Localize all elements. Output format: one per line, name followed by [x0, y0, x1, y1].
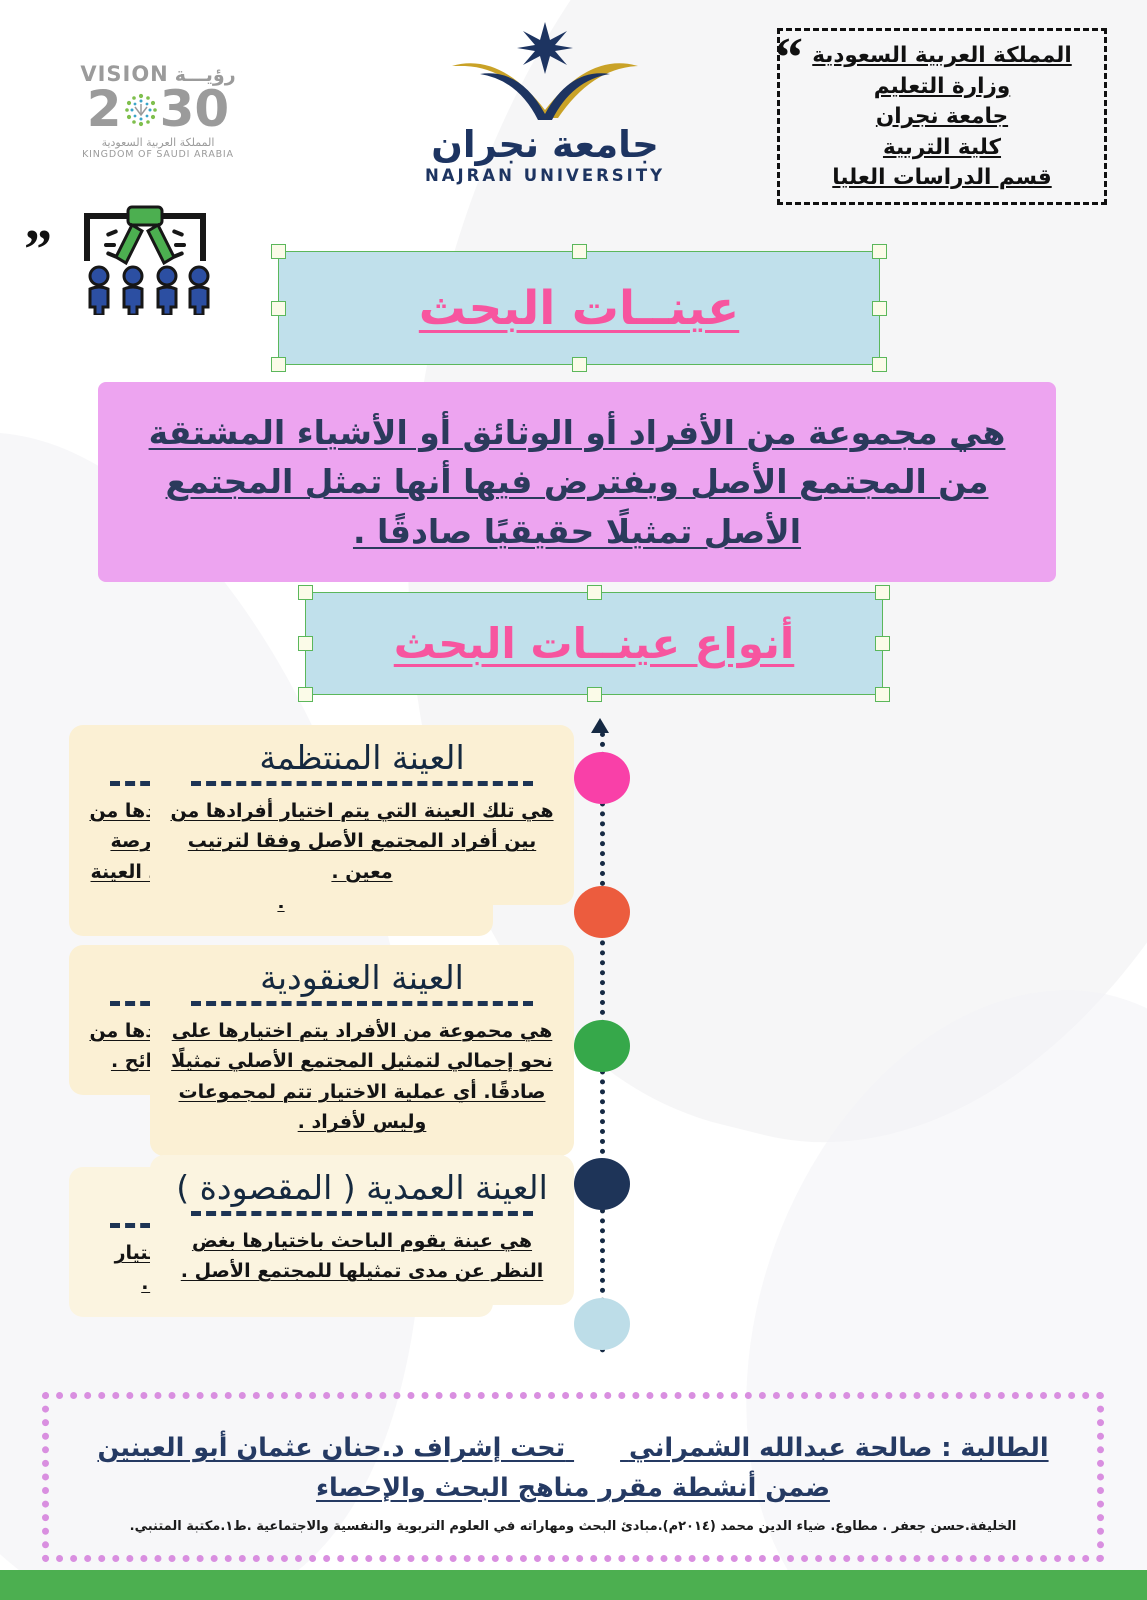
affiliation-line-5: قسم الدراسات العليا: [794, 163, 1090, 194]
card-cluster-sample: العينة العنقودية هي محموعة من الأفراد يت…: [150, 945, 574, 1156]
card-title: العينة المنتظمة: [168, 739, 556, 777]
resize-handle-bottom-right[interactable]: [875, 687, 890, 702]
palm-swords-emblem-icon: [123, 92, 159, 128]
resize-handle-top-center[interactable]: [572, 244, 587, 259]
card-title: العينة العنقودية: [168, 959, 556, 997]
resize-handle-bottom-left[interactable]: [271, 357, 286, 372]
vision-logo-year-left: 2: [87, 86, 122, 134]
title-textbox[interactable]: عينــات البحث: [278, 251, 880, 365]
subtitle-textbox[interactable]: أنواع عينــات البحث: [305, 592, 883, 695]
timeline-axis: [597, 718, 607, 1353]
card-body: هي تلك العينة التي يتم اختيار أفرادها من…: [168, 796, 556, 887]
resize-handle-bottom-right[interactable]: [872, 357, 887, 372]
university-emblem-icon: [410, 18, 680, 130]
section-title: أنواع عينــات البحث: [394, 623, 795, 665]
resize-handle-middle-right[interactable]: [875, 636, 890, 651]
vision-logo-year-right: 30: [160, 86, 230, 134]
card-body: هي محموعة من الأفراد يتم اختيارها على نح…: [168, 1016, 556, 1138]
vision-2030-logo: VISION رؤيـــة 2: [78, 62, 238, 160]
timeline-arrow-icon: [591, 718, 609, 733]
supervisor-name: تحت إشراف د.حنان عثمان أبو العينين: [97, 1433, 565, 1463]
sampling-people-icon: [70, 195, 220, 315]
resize-handle-bottom-center[interactable]: [587, 687, 602, 702]
resize-handle-bottom-center[interactable]: [572, 357, 587, 372]
student-name: الطالبة : صالحة عبدالله الشمراني: [629, 1433, 1049, 1463]
vision-logo-subtitle-ar: المملكة العربية السعودية: [78, 136, 238, 149]
resize-handle-bottom-left[interactable]: [298, 687, 313, 702]
affiliation-block: المملكة العربية السعودية وزارة التعليم ج…: [777, 28, 1107, 205]
reference-citation: الخليفة.حسن جعفر . مطاوع. ضياء الدين محم…: [79, 1518, 1067, 1536]
card-divider: [191, 1211, 532, 1216]
timeline-dot-pink: [574, 752, 630, 804]
header: VISION رؤيـــة 2: [0, 0, 1147, 230]
resize-handle-top-right[interactable]: [872, 244, 887, 259]
poster-canvas: VISION رؤيـــة 2: [0, 0, 1147, 1600]
timeline-dot-green: [574, 1020, 630, 1072]
card-body: هي عينة يقوم الباحث باختيارها بغض النظر …: [168, 1226, 556, 1287]
bottom-green-bar: [0, 1570, 1147, 1600]
definition-box: هي مجموعة من الأفراد أو الوثائق أو الأشي…: [98, 382, 1056, 582]
card-divider: [191, 1001, 532, 1006]
resize-handle-top-left[interactable]: [298, 585, 313, 600]
page-title: عينــات البحث: [419, 285, 739, 332]
footer-names-line: الطالبة : صالحة عبدالله الشمراني تحت إشر…: [79, 1429, 1067, 1469]
vision-logo-subtitle-en: KINGDOM OF SAUDI ARABIA: [78, 149, 238, 160]
card-divider: [191, 781, 532, 786]
resize-handle-top-center[interactable]: [587, 585, 602, 600]
resize-handle-middle-left[interactable]: [298, 636, 313, 651]
quote-close-icon: ”: [24, 236, 52, 264]
vision-logo-year: 2: [78, 86, 238, 134]
affiliation-line-1: المملكة العربية السعودية: [794, 41, 1090, 72]
resize-handle-top-right[interactable]: [875, 585, 890, 600]
card-purposive-sample: العينة العمدية ( المقصودة ) هي عينة يقوم…: [150, 1155, 574, 1305]
timeline-dot-lightblue: [574, 1298, 630, 1350]
university-name-en: NAJRAN UNIVERSITY: [410, 166, 680, 185]
timeline-dot-navy: [574, 1158, 630, 1210]
footer-credits: الطالبة : صالحة عبدالله الشمراني تحت إشر…: [42, 1392, 1104, 1562]
university-name-ar: جامعة نجران: [410, 126, 680, 163]
course-name: ضمن أنشطة مقرر مناهج البحث والإحصاء: [79, 1469, 1067, 1509]
najran-university-logo: جامعة نجران NAJRAN UNIVERSITY: [410, 18, 680, 185]
definition-text: هي مجموعة من الأفراد أو الوثائق أو الأشي…: [126, 408, 1028, 557]
affiliation-line-3: جامعة نجران: [794, 102, 1090, 133]
affiliation-line-4: كلية التربية: [794, 133, 1090, 164]
card-systematic-sample: العينة المنتظمة هي تلك العينة التي يتم ا…: [150, 725, 574, 905]
timeline-dot-orange: [574, 886, 630, 938]
resize-handle-middle-left[interactable]: [271, 301, 286, 316]
card-title: العينة العمدية ( المقصودة ): [168, 1169, 556, 1207]
resize-handle-top-left[interactable]: [271, 244, 286, 259]
resize-handle-middle-right[interactable]: [872, 301, 887, 316]
affiliation-line-2: وزارة التعليم: [794, 72, 1090, 103]
